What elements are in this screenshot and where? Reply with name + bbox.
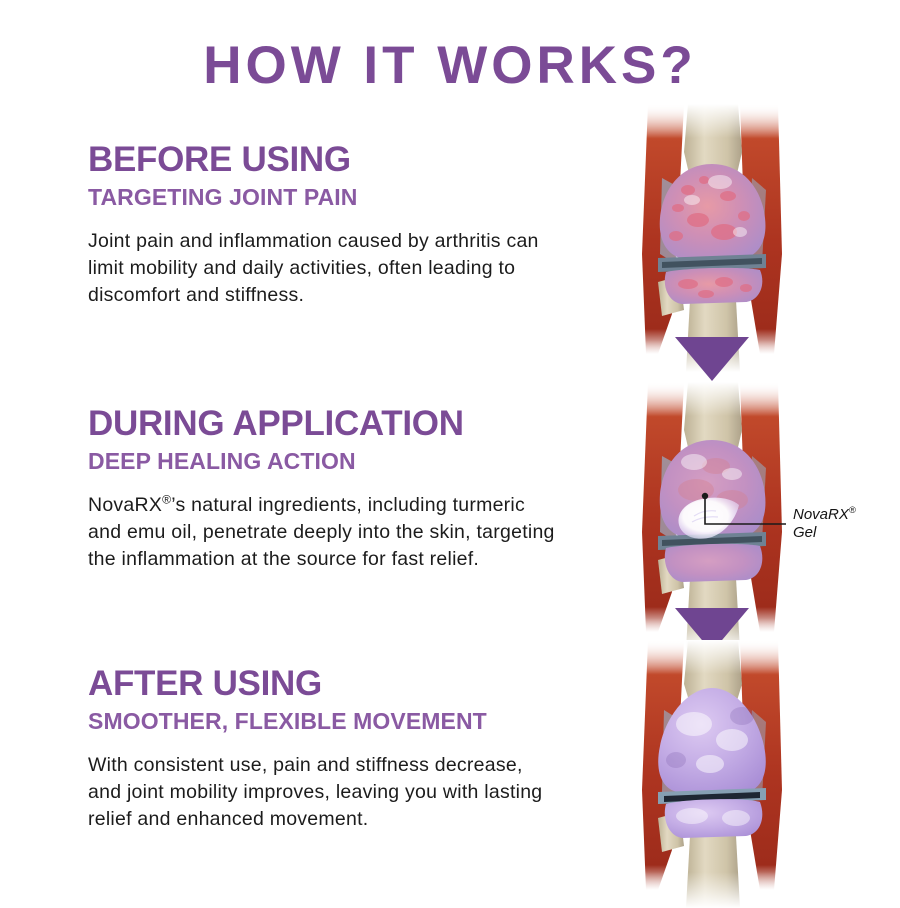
brand-name: NovaRX	[88, 494, 162, 516]
step-heading: BEFORE USING	[88, 142, 633, 177]
step-heading: DURING APPLICATION	[88, 406, 633, 441]
step-body-text: With consistent use, pain and stiffness …	[88, 752, 558, 833]
step-subheading: DEEP HEALING ACTION	[88, 450, 633, 473]
step-block-during-application: DURING APPLICATION DEEP HEALING ACTION N…	[88, 406, 633, 573]
step-block-after-using: AFTER USING SMOOTHER, FLEXIBLE MOVEMENT …	[88, 666, 633, 833]
step-heading: AFTER USING	[88, 666, 633, 701]
knee-joint-healthy-illustration	[632, 640, 792, 908]
chevron-down-arrow-icon	[675, 335, 749, 381]
knee-joint-inflamed-illustration	[632, 104, 792, 372]
registered-mark-icon: ®	[162, 493, 171, 507]
step-body-text: Joint pain and inflammation caused by ar…	[88, 228, 558, 309]
step-subheading: TARGETING JOINT PAIN	[88, 186, 633, 209]
step-block-before-using: BEFORE USING TARGETING JOINT PAIN Joint …	[88, 142, 633, 309]
infographic-page: HOW IT WORKS? BEFORE USING TARGETING JOI…	[0, 0, 900, 900]
knee-illustration-column	[632, 0, 807, 900]
step-subheading: SMOOTHER, FLEXIBLE MOVEMENT	[88, 710, 633, 733]
registered-mark-icon: ®	[849, 505, 856, 515]
step-body-text: NovaRX®’s natural ingredients, including…	[88, 492, 558, 573]
